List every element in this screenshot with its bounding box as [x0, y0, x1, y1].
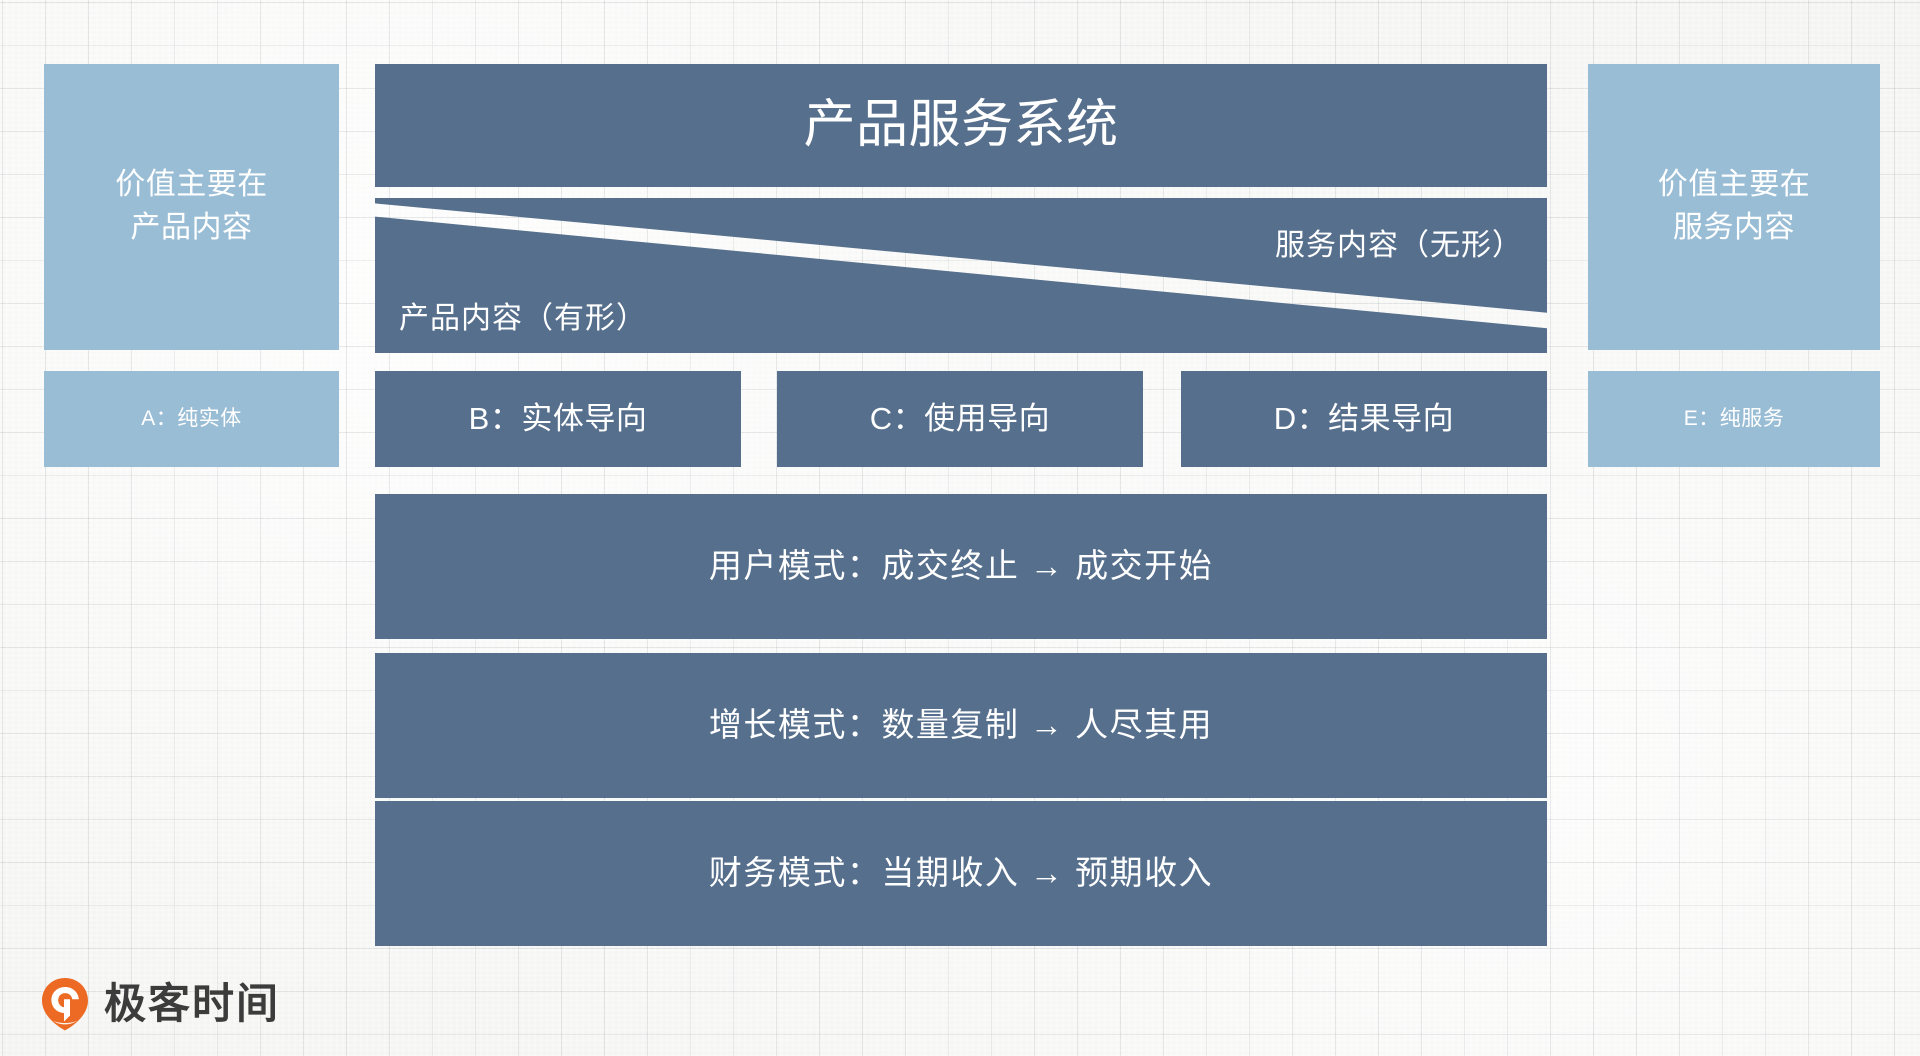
category-b-product-oriented: B：实体导向: [375, 371, 741, 467]
brand-logo: 极客时间: [40, 976, 280, 1032]
geekbang-logo-icon: [40, 976, 90, 1032]
mode-bar-growth: 增长模式：数量复制 → 人尽其用: [375, 653, 1547, 798]
category-d-result-oriented: D：结果导向: [1181, 371, 1547, 467]
right-value-statement: 价值主要在 服务内容: [1588, 64, 1880, 350]
brand-logo-text: 极客时间: [104, 983, 280, 1025]
category-c-use-oriented: C：使用导向: [777, 371, 1143, 467]
category-a-pure-product: A：纯实体: [44, 371, 339, 467]
service-content-label: 服务内容（无形）: [1275, 220, 1523, 264]
mode-bar-finance: 财务模式：当期收入 → 预期收入: [375, 801, 1547, 946]
product-service-split-band: 服务内容（无形） 产品内容（有形）: [375, 198, 1547, 353]
mode-bar-user: 用户模式：成交终止 → 成交开始: [375, 494, 1547, 639]
product-content-label: 产品内容（有形）: [399, 293, 647, 337]
category-e-pure-service: E：纯服务: [1588, 371, 1880, 467]
left-value-statement: 价值主要在 产品内容: [44, 64, 339, 350]
slide-canvas: 产品服务系统 价值主要在 产品内容 A：纯实体 价值主要在 服务内容 E：纯服务…: [0, 0, 1920, 1056]
page-title: 产品服务系统: [375, 64, 1547, 187]
